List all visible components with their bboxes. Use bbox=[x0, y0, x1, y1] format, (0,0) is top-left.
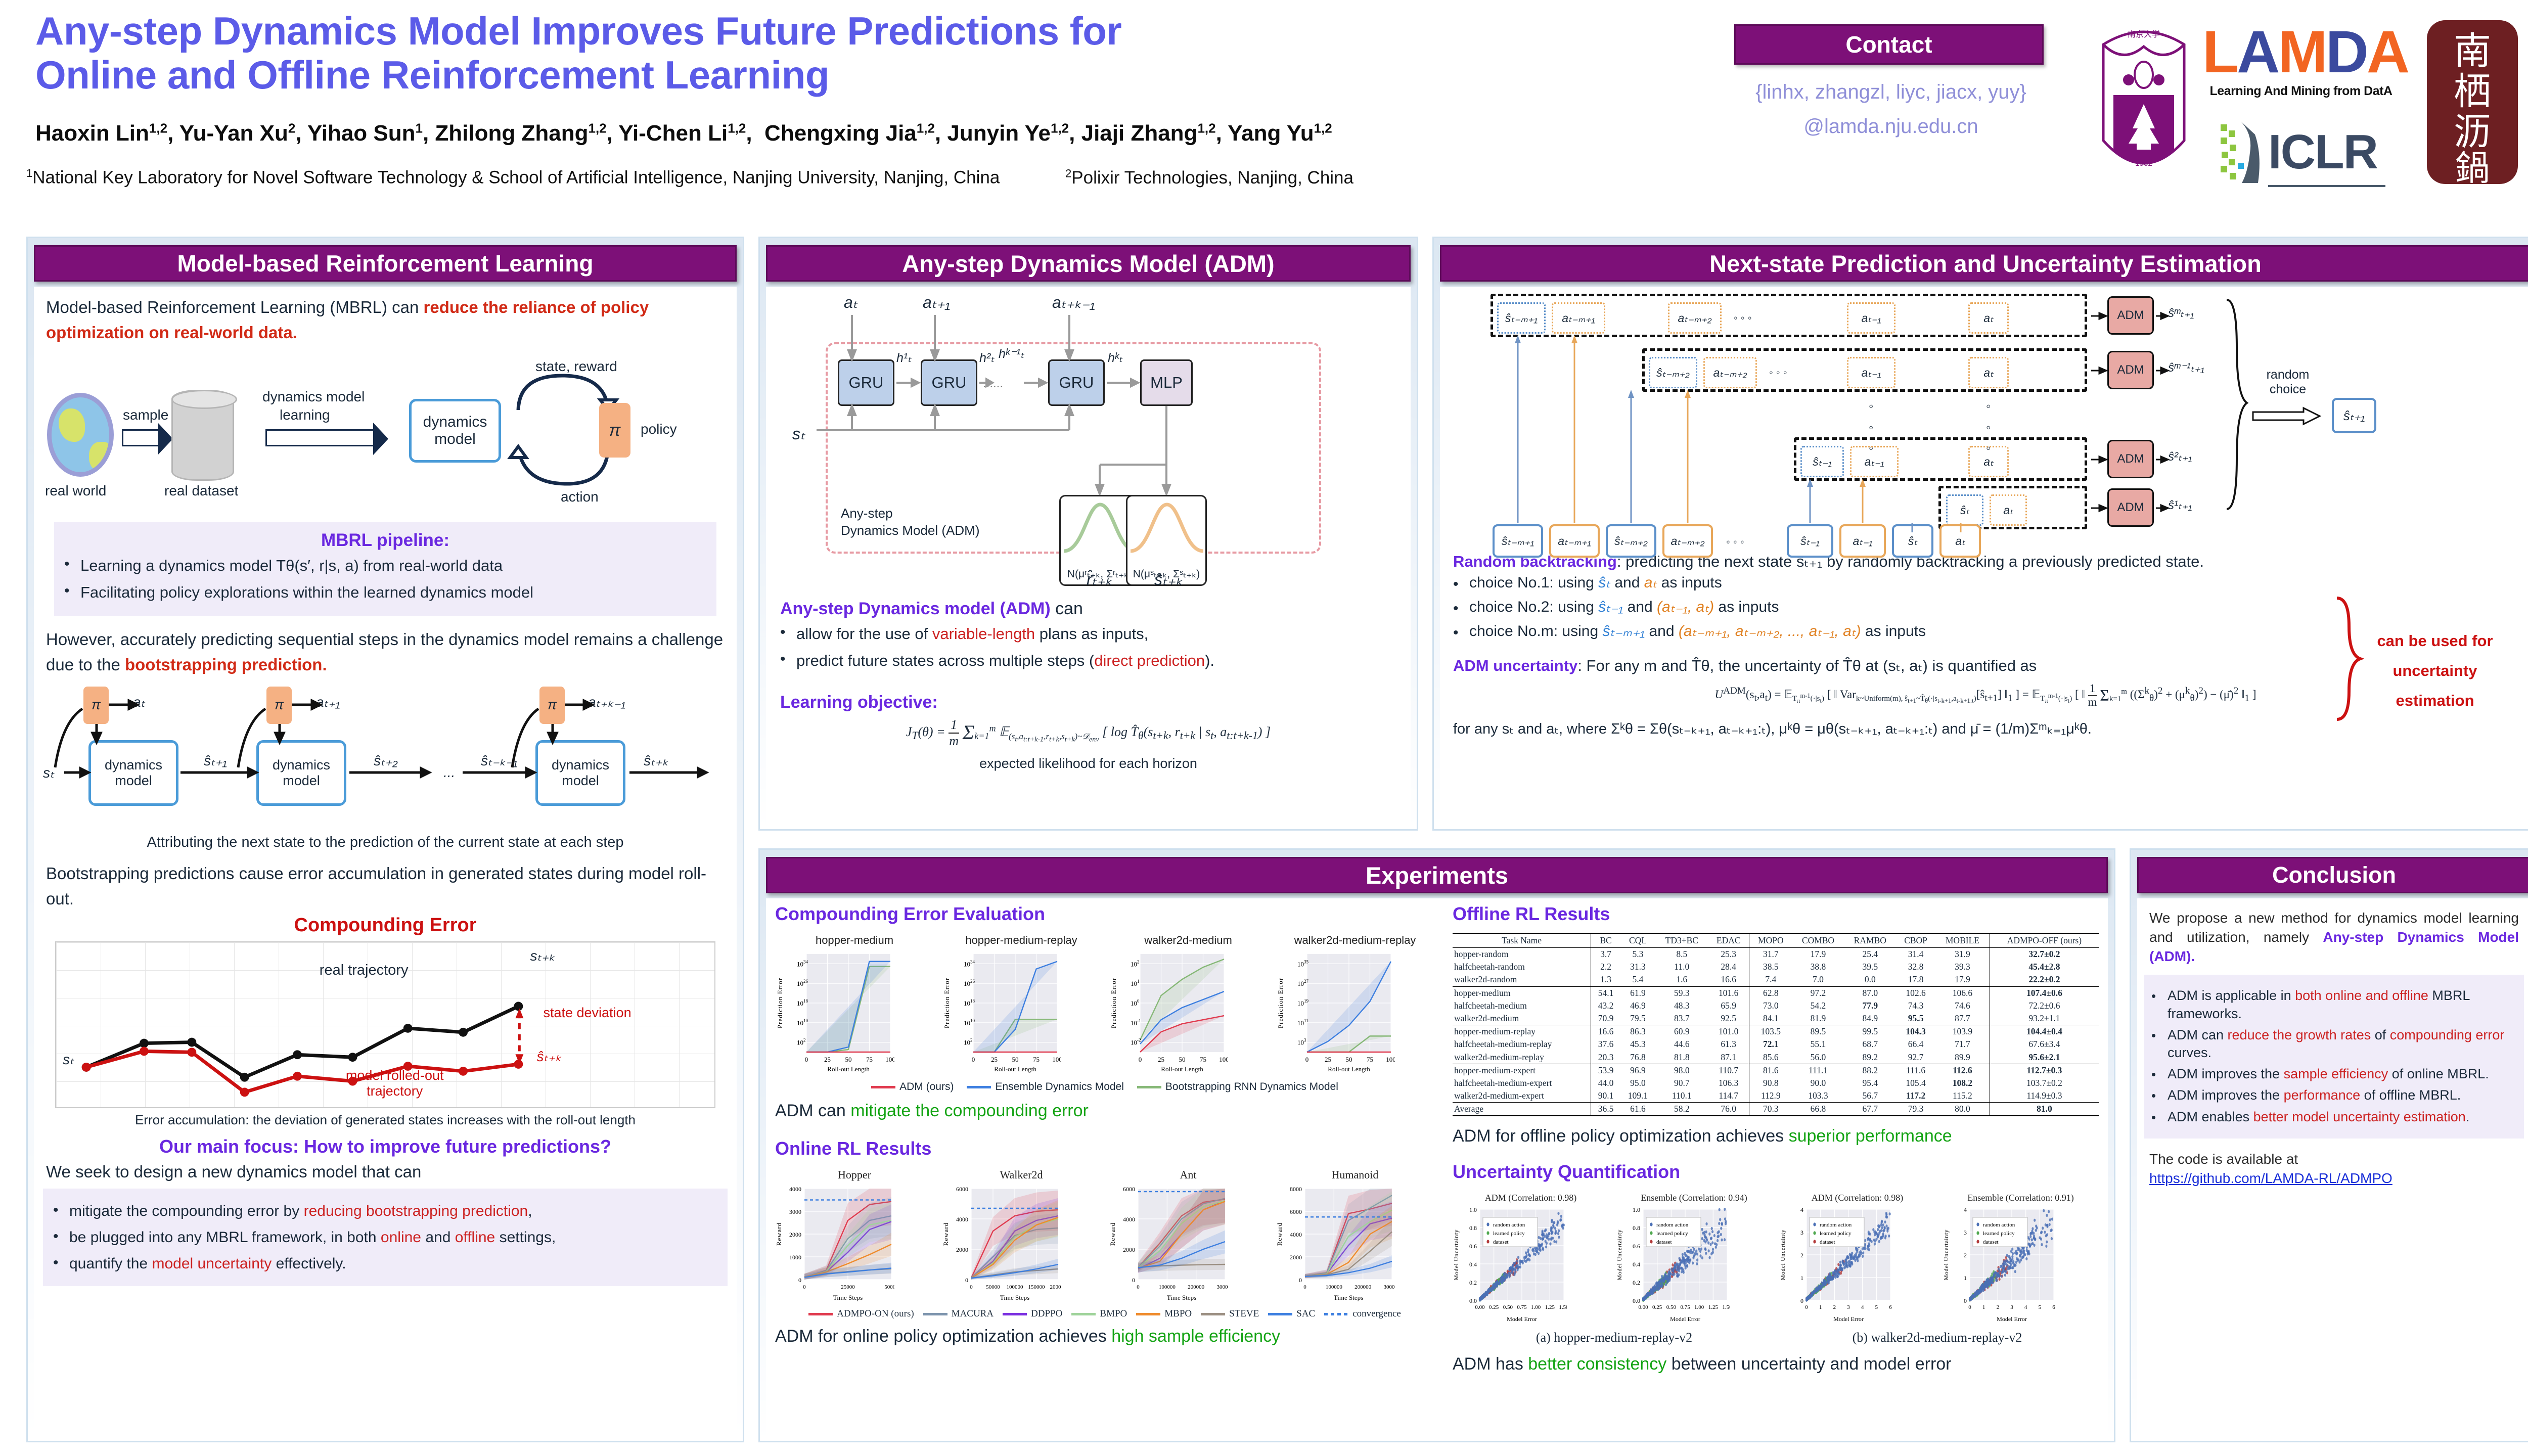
svg-text:0.25: 0.25 bbox=[1652, 1304, 1662, 1310]
svg-text:6000: 6000 bbox=[956, 1186, 968, 1193]
table-cell-task: walker2d-medium-expert bbox=[1453, 1089, 1591, 1103]
table-cell: 95.5 bbox=[1896, 1012, 1935, 1025]
svg-text:Reward: Reward bbox=[942, 1222, 950, 1246]
svg-text:10: 10 bbox=[797, 960, 803, 968]
compounding-error-legend: ADM (ours)Ensemble Dynamics ModelBootstr… bbox=[775, 1081, 1434, 1093]
legend-item: Ensemble Dynamics Model bbox=[967, 1081, 1123, 1093]
table-cell: 108.2 bbox=[1935, 1077, 1990, 1089]
svg-text:1.50: 1.50 bbox=[1559, 1304, 1567, 1310]
table-cell: 73.0 bbox=[1749, 999, 1792, 1012]
svg-text:10: 10 bbox=[1297, 960, 1304, 968]
svg-text:10: 10 bbox=[1297, 1039, 1304, 1046]
table-cell-task: halfcheetah-random bbox=[1453, 961, 1591, 973]
affiliations: 1National Key Laboratory for Novel Softw… bbox=[26, 167, 2074, 189]
compounding-error-caption: ADM can mitigate the compounding error bbox=[775, 1101, 1434, 1121]
compounding-error-charts: hopper-medium102101010181026103402550751… bbox=[775, 934, 1434, 1076]
table-cell: 117.2 bbox=[1896, 1089, 1935, 1103]
legend-item: Bootstrapping RNN Dynamics Model bbox=[1137, 1081, 1338, 1093]
svg-text:10: 10 bbox=[1131, 960, 1137, 968]
table-cell: 45.3 bbox=[1620, 1038, 1655, 1051]
table-cell-ours: 103.7±0.2 bbox=[1990, 1077, 2099, 1089]
label-real-trajectory: real trajectory bbox=[320, 962, 409, 979]
svg-text:200000: 200000 bbox=[1188, 1284, 1205, 1290]
svg-text:Model Error: Model Error bbox=[1507, 1315, 1537, 1323]
table-cell: 16.6 bbox=[1591, 1025, 1620, 1038]
focus-item: • quantify the model uncertainty effecti… bbox=[53, 1252, 717, 1276]
table-col-header: RAMBO bbox=[1844, 933, 1896, 948]
ce-subplot: walker2d-medium10-210-110010110202550751… bbox=[1109, 934, 1268, 1076]
svg-text:100000: 100000 bbox=[1007, 1284, 1024, 1290]
svg-text:Reward: Reward bbox=[775, 1222, 783, 1246]
table-cell: 104.3 bbox=[1896, 1025, 1935, 1038]
svg-text:10: 10 bbox=[797, 980, 803, 987]
svg-text:25: 25 bbox=[824, 1056, 831, 1063]
table-col-header: BC bbox=[1591, 933, 1620, 948]
svg-text:10: 10 bbox=[1131, 999, 1137, 1007]
svg-text:dataset: dataset bbox=[1656, 1239, 1672, 1245]
legend-swatch bbox=[1071, 1313, 1096, 1315]
random-backtracking-diagram: ŝₜ₋ₘ₊₁ aₜ₋ₘ₊₁ aₜ₋ₘ₊₂ ◦ ◦ ◦ aₜ₋₁ aₜ ADM ŝ… bbox=[1440, 287, 2528, 539]
label-ce-shat-tk: ŝₜ₊ₖ bbox=[536, 1048, 561, 1065]
svg-text:Model Error: Model Error bbox=[1997, 1315, 2027, 1323]
svg-text:19: 19 bbox=[1304, 998, 1309, 1004]
svg-text:1: 1 bbox=[1137, 979, 1140, 984]
svg-text:1.25: 1.25 bbox=[1545, 1304, 1555, 1310]
label-sample: sample bbox=[123, 407, 168, 423]
table-cell-task: halfcheetah-medium bbox=[1453, 999, 1591, 1012]
svg-text:2: 2 bbox=[1964, 1252, 1967, 1259]
legend-swatch bbox=[1268, 1313, 1292, 1315]
table-cell: 81.8 bbox=[1655, 1051, 1708, 1064]
table-cell: 25.3 bbox=[1708, 948, 1749, 961]
svg-text:0.8: 0.8 bbox=[1633, 1224, 1640, 1232]
table-cell: 103.3 bbox=[1792, 1089, 1844, 1103]
table-cell: 92.5 bbox=[1708, 1012, 1749, 1025]
objective-title: Learning objective: bbox=[780, 693, 1396, 712]
svg-text:50: 50 bbox=[1179, 1056, 1186, 1063]
svg-text:0.8: 0.8 bbox=[1469, 1224, 1477, 1232]
legend-swatch bbox=[871, 1086, 895, 1088]
table-row: walker2d-medium-expert90.1109.1110.1114.… bbox=[1453, 1089, 2099, 1103]
table-cell: 81.6 bbox=[1749, 1064, 1792, 1077]
pipeline-item: •Facilitating policy explorations within… bbox=[64, 580, 706, 604]
label-model-trajectory: model rolled-outtrajectory bbox=[346, 1068, 444, 1099]
contact-email-line2: @lamda.nju.edu.cn bbox=[1719, 115, 2063, 138]
table-cell: 80.0 bbox=[1935, 1103, 1990, 1116]
label-action: action bbox=[561, 489, 599, 505]
adm-dashbox-label: Any-stepDynamics Model (ADM) bbox=[841, 505, 980, 539]
chain-caption: Attributing the next state to the predic… bbox=[34, 834, 737, 851]
svg-text:0: 0 bbox=[1964, 1297, 1967, 1304]
svg-text:75: 75 bbox=[1033, 1056, 1040, 1063]
legend-item: SAC bbox=[1268, 1308, 1315, 1319]
table-cell: 70.9 bbox=[1591, 1012, 1620, 1025]
svg-text:Time Steps: Time Steps bbox=[1334, 1294, 1363, 1301]
svg-text:0: 0 bbox=[965, 1277, 968, 1284]
table-body: hopper-random3.75.38.525.331.717.925.431… bbox=[1453, 948, 2099, 1116]
label-state-reward: state, reward bbox=[535, 358, 617, 375]
logo-strip: 1902 南京大学 LAMDA Learning And Mining from… bbox=[2088, 12, 2528, 189]
svg-text:150000: 150000 bbox=[1028, 1284, 1046, 1290]
svg-text:0: 0 bbox=[805, 1056, 808, 1063]
table-cell: 7.0 bbox=[1792, 973, 1844, 986]
legend-item: convergence bbox=[1324, 1308, 1401, 1319]
svg-text:0.6: 0.6 bbox=[1633, 1243, 1640, 1250]
table-cell: 5.3 bbox=[1620, 948, 1655, 961]
svg-text:10: 10 bbox=[797, 999, 803, 1007]
uncertainty-caption: ADM has better consistency between uncer… bbox=[1453, 1354, 2099, 1374]
svg-text:learned policy: learned policy bbox=[1656, 1231, 1688, 1237]
policy-pi-box: π bbox=[599, 403, 630, 458]
table-cell: 1.3 bbox=[1591, 973, 1620, 986]
table-cell: 56.0 bbox=[1792, 1051, 1844, 1064]
svg-text:3000: 3000 bbox=[789, 1208, 801, 1215]
table-cell: 90.0 bbox=[1792, 1077, 1844, 1089]
svg-text:learned policy: learned policy bbox=[1983, 1231, 2015, 1237]
svg-text:25: 25 bbox=[1325, 1056, 1331, 1063]
pipeline-title: MBRL pipeline: bbox=[64, 530, 706, 551]
table-cell: 32.8 bbox=[1896, 961, 1935, 973]
svg-text:1.00: 1.00 bbox=[1694, 1304, 1704, 1310]
table-cell: 111.6 bbox=[1896, 1064, 1935, 1077]
svg-text:0.2: 0.2 bbox=[1633, 1279, 1640, 1286]
svg-text:50000: 50000 bbox=[884, 1284, 894, 1290]
svg-text:50: 50 bbox=[1012, 1056, 1019, 1063]
svg-text:0.00: 0.00 bbox=[1638, 1304, 1648, 1310]
panel-right-title: Next-state Prediction and Uncertainty Es… bbox=[1709, 250, 2262, 278]
table-cell: 106.3 bbox=[1708, 1077, 1749, 1089]
table-cell: 77.9 bbox=[1844, 999, 1896, 1012]
panel-mid-body: aₜ aₜ₊₁ aₜ₊ₖ₋₁ GRU GRU GRU MLP h¹ₜ h²ₜ h… bbox=[766, 287, 1411, 825]
panel-right-header: Next-state Prediction and Uncertainty Es… bbox=[1440, 245, 2528, 282]
online-rl-caption: ADM for online policy optimization achie… bbox=[775, 1327, 1434, 1346]
svg-text:18: 18 bbox=[803, 998, 808, 1004]
svg-text:27: 27 bbox=[1304, 979, 1309, 984]
ce-subplot-title: walker2d-medium-replay bbox=[1276, 934, 1434, 947]
table-cell: 59.3 bbox=[1655, 986, 1708, 999]
svg-text:Reward: Reward bbox=[1276, 1222, 1283, 1246]
table-cell: 89.9 bbox=[1935, 1051, 1990, 1064]
offline-rl-caption: ADM for offline policy optimization achi… bbox=[1453, 1126, 2099, 1146]
svg-text:10: 10 bbox=[964, 1039, 970, 1046]
offline-rl-title: Offline RL Results bbox=[1453, 903, 2099, 925]
table-cell: 98.0 bbox=[1655, 1064, 1708, 1077]
table-cell: 111.1 bbox=[1792, 1064, 1844, 1077]
table-cell: 38.5 bbox=[1749, 961, 1792, 973]
svg-text:10: 10 bbox=[964, 980, 970, 987]
table-col-header: CQL bbox=[1620, 933, 1655, 948]
table-cell: 62.8 bbox=[1749, 986, 1792, 999]
svg-text:34: 34 bbox=[970, 959, 975, 964]
svg-text:Roll-out Length: Roll-out Length bbox=[1161, 1065, 1203, 1073]
svg-text:Model Uncertainty: Model Uncertainty bbox=[1617, 1230, 1623, 1281]
table-cell: 112.9 bbox=[1749, 1089, 1792, 1103]
dynamics-model-box: dynamicsmodel bbox=[409, 399, 501, 463]
svg-text:0: 0 bbox=[1805, 1304, 1808, 1310]
chain-arrows bbox=[34, 681, 732, 833]
nanjing-seal-logo: 南 栖 沥 鍋 bbox=[2422, 15, 2523, 189]
svg-text:5: 5 bbox=[1875, 1304, 1878, 1310]
table-cell: 83.7 bbox=[1655, 1012, 1708, 1025]
table-cell: 76.8 bbox=[1620, 1051, 1655, 1064]
adm-output-reward: r̂ₜ₊ₖ bbox=[1087, 570, 1112, 589]
legend-label: SAC bbox=[1296, 1308, 1315, 1319]
svg-text:6: 6 bbox=[2052, 1304, 2055, 1310]
table-cell: 70.3 bbox=[1749, 1103, 1792, 1116]
main-focus-title: Our main focus: How to improve future pr… bbox=[34, 1136, 737, 1157]
uq-subplot-title: Ensemble (Correlation: 0.94) bbox=[1616, 1193, 1772, 1203]
svg-text:Model Error: Model Error bbox=[1833, 1315, 1864, 1323]
table-cell: 90.7 bbox=[1655, 1077, 1708, 1089]
svg-text:25000: 25000 bbox=[841, 1284, 855, 1290]
table-cell: 109.1 bbox=[1620, 1089, 1655, 1103]
svg-text:1: 1 bbox=[1982, 1304, 1985, 1310]
svg-text:0.6: 0.6 bbox=[1469, 1243, 1477, 1250]
svg-text:1.25: 1.25 bbox=[1708, 1304, 1719, 1310]
legend-label: ADMPO-ON (ours) bbox=[837, 1308, 914, 1319]
uq-subcaption-b: (b) walker2d-medium-replay-v2 bbox=[1776, 1330, 2099, 1345]
random-backtracking-text-block: Random backtracking: predicting the next… bbox=[1440, 539, 2528, 738]
table-cell: 89.5 bbox=[1792, 1025, 1844, 1038]
svg-text:5: 5 bbox=[2039, 1304, 2042, 1310]
svg-text:3: 3 bbox=[1847, 1304, 1850, 1310]
svg-text:4: 4 bbox=[1964, 1206, 1967, 1213]
svg-text:10: 10 bbox=[803, 1018, 808, 1023]
legend-label: ADM (ours) bbox=[899, 1081, 954, 1093]
legend-item: DDPPO bbox=[1003, 1308, 1062, 1319]
panel-mid-header: Any-step Dynamics Model (ADM) bbox=[766, 245, 1411, 282]
panel-conclusion-header: Conclusion bbox=[2137, 857, 2528, 893]
legend-label: MBPO bbox=[1164, 1308, 1192, 1319]
label-state-deviation: state deviation bbox=[543, 1005, 631, 1021]
svg-text:0.75: 0.75 bbox=[1680, 1304, 1690, 1310]
svg-text:3: 3 bbox=[1800, 1229, 1803, 1236]
svg-text:0: 0 bbox=[1800, 1297, 1803, 1304]
panel-model-based-rl: Model-based Reinforcement Learning Model… bbox=[26, 237, 744, 1442]
label-real-dataset: real dataset bbox=[164, 483, 238, 499]
table-cell: 79.3 bbox=[1896, 1103, 1935, 1116]
svg-text:0: 0 bbox=[1137, 998, 1140, 1004]
svg-text:6000: 6000 bbox=[1123, 1186, 1135, 1193]
uq-subplot-title: ADM (Correlation: 0.98) bbox=[1453, 1193, 1609, 1203]
ce-subplot-title: hopper-medium bbox=[775, 934, 934, 947]
panel-conclusion-title: Conclusion bbox=[2272, 862, 2396, 888]
svg-text:1.0: 1.0 bbox=[1469, 1206, 1477, 1213]
ce-subplot: hopper-medium102101010181026103402550751… bbox=[775, 934, 934, 1076]
table-cell: 81.9 bbox=[1792, 1012, 1844, 1025]
table-cell: 92.7 bbox=[1896, 1051, 1935, 1064]
table-cell: 25.4 bbox=[1844, 948, 1896, 961]
table-row: halfcheetah-medium43.246.948.365.973.054… bbox=[1453, 999, 2099, 1012]
table-cell: 48.3 bbox=[1655, 999, 1708, 1012]
brace-note: can be used foruncertainty estimation bbox=[2359, 626, 2511, 716]
svg-text:3: 3 bbox=[2010, 1304, 2013, 1310]
table-col-header: EDAC bbox=[1708, 933, 1749, 948]
table-cell: 114.7 bbox=[1708, 1089, 1749, 1103]
svg-text:10: 10 bbox=[970, 1018, 975, 1023]
table-cell: 90.1 bbox=[1591, 1089, 1620, 1103]
svg-text:2: 2 bbox=[1800, 1252, 1803, 1259]
table-cell: 72.1 bbox=[1749, 1038, 1792, 1051]
table-cell: 20.3 bbox=[1591, 1051, 1620, 1064]
table-col-header: CBOP bbox=[1896, 933, 1935, 948]
legend-swatch bbox=[1136, 1313, 1160, 1315]
svg-text:1902: 1902 bbox=[2135, 159, 2152, 168]
svg-text:0.2: 0.2 bbox=[1469, 1279, 1477, 1286]
svg-text:0: 0 bbox=[972, 1056, 975, 1063]
table-cell: 0.0 bbox=[1844, 973, 1896, 986]
code-availability: The code is available at https://github.… bbox=[2137, 1139, 2528, 1188]
legend-swatch bbox=[1324, 1313, 1348, 1315]
svg-text:18: 18 bbox=[970, 998, 975, 1004]
svg-text:2000: 2000 bbox=[789, 1231, 801, 1238]
ce-subplot-title: walker2d-medium bbox=[1109, 934, 1268, 947]
table-cell: 53.9 bbox=[1591, 1064, 1620, 1077]
legend-swatch bbox=[923, 1313, 947, 1315]
table-cell-task: Average bbox=[1453, 1103, 1591, 1116]
svg-text:4000: 4000 bbox=[1123, 1216, 1135, 1223]
svg-text:75: 75 bbox=[866, 1056, 873, 1063]
table-cell-task: hopper-medium-replay bbox=[1453, 1025, 1591, 1038]
exp-column-right: Offline RL Results Task NameBCCQLTD3+BCE… bbox=[1443, 898, 2108, 1437]
code-text: The code is available at bbox=[2149, 1150, 2519, 1169]
conclusion-item: • ADM is applicable in both online and o… bbox=[2151, 987, 2517, 1023]
table-cell-ours: 67.6±3.4 bbox=[1990, 1038, 2099, 1051]
svg-text:0.50: 0.50 bbox=[1666, 1304, 1677, 1310]
table-cell: 90.8 bbox=[1749, 1077, 1792, 1089]
svg-text:1.50: 1.50 bbox=[1722, 1304, 1730, 1310]
online-rl-charts: Hopper0100020003000400002500050000Time S… bbox=[775, 1168, 1434, 1304]
table-cell: 88.2 bbox=[1844, 1064, 1896, 1077]
table-cell: 101.6 bbox=[1708, 986, 1749, 999]
svg-text:4: 4 bbox=[1800, 1206, 1803, 1213]
svg-text:10: 10 bbox=[1131, 1019, 1137, 1027]
svg-text:2: 2 bbox=[803, 1038, 806, 1043]
table-cell: 38.8 bbox=[1792, 961, 1844, 973]
svg-text:0.4: 0.4 bbox=[1469, 1261, 1477, 1268]
conclusion-item: • ADM can reduce the growth rates of com… bbox=[2151, 1026, 2517, 1062]
svg-text:0: 0 bbox=[803, 1284, 806, 1290]
table-cell: 11.0 bbox=[1655, 961, 1708, 973]
table-row: hopper-random3.75.38.525.331.717.925.431… bbox=[1453, 948, 2099, 961]
offline-results-table-wrap: Task NameBCCQLTD3+BCEDACMOPOCOMBORAMBOCB… bbox=[1453, 933, 2099, 1116]
svg-text:Prediction Error: Prediction Error bbox=[1277, 978, 1284, 1028]
panel-experiments: Experiments Compounding Error Evaluation… bbox=[758, 848, 2115, 1442]
svg-text:1.00: 1.00 bbox=[1531, 1304, 1541, 1310]
svg-text:300000: 300000 bbox=[1384, 1284, 1395, 1290]
svg-text:2000: 2000 bbox=[1290, 1254, 1302, 1261]
table-row: walker2d-random1.35.41.616.67.47.00.017.… bbox=[1453, 973, 2099, 986]
table-cell: 61.9 bbox=[1620, 986, 1655, 999]
table-cell-task: walker2d-random bbox=[1453, 973, 1591, 986]
table-cell: 103.5 bbox=[1749, 1025, 1792, 1038]
panel-left-title: Model-based Reinforcement Learning bbox=[177, 250, 593, 277]
svg-text:Time Steps: Time Steps bbox=[1167, 1294, 1196, 1301]
svg-text:100000: 100000 bbox=[1326, 1284, 1343, 1290]
svg-text:Roll-out Length: Roll-out Length bbox=[994, 1065, 1036, 1073]
svg-text:栖: 栖 bbox=[2454, 71, 2491, 113]
table-cell-task: walker2d-medium bbox=[1453, 1012, 1591, 1025]
table-cell: 28.4 bbox=[1708, 961, 1749, 973]
svg-text:6000: 6000 bbox=[1290, 1208, 1302, 1215]
svg-text:1: 1 bbox=[1800, 1275, 1803, 1282]
table-cell-ours: 45.4±2.8 bbox=[1990, 961, 2099, 973]
svg-text:4: 4 bbox=[1861, 1304, 1864, 1310]
however-text: However, accurately predicting sequentia… bbox=[34, 616, 737, 677]
table-cell-ours: 107.4±0.6 bbox=[1990, 986, 2099, 999]
svg-text:100: 100 bbox=[1219, 1056, 1228, 1063]
table-cell-ours: 22.2±0.2 bbox=[1990, 973, 2099, 986]
table-row: hopper-medium-replay16.686.360.9101.0103… bbox=[1453, 1025, 2099, 1038]
table-cell: 17.9 bbox=[1935, 973, 1990, 986]
svg-text:75: 75 bbox=[1367, 1056, 1373, 1063]
table-cell-ours: 93.2±1.1 bbox=[1990, 1012, 2099, 1025]
svg-text:6: 6 bbox=[1889, 1304, 1892, 1310]
main-focus-box: • mitigate the compounding error by redu… bbox=[43, 1189, 728, 1286]
choice-item: • choice No.1: using ŝₜ and aₜ as inputs bbox=[1453, 574, 2518, 595]
legend-item: BMPO bbox=[1071, 1308, 1127, 1319]
github-link[interactable]: https://github.com/LAMDA-RL/ADMPO bbox=[2149, 1170, 2392, 1186]
arrow-dm-learning bbox=[265, 429, 375, 446]
adm-can-item: • predict future states across multiple … bbox=[780, 649, 1396, 672]
table-cell: 44.0 bbox=[1591, 1077, 1620, 1089]
table-cell-task: hopper-random bbox=[1453, 948, 1591, 961]
svg-text:Model Uncertainty: Model Uncertainty bbox=[1454, 1230, 1460, 1281]
label-real-world: real world bbox=[45, 483, 106, 499]
compounding-error-illustration: Compounding Error bbox=[34, 915, 737, 1128]
svg-text:Model Uncertainty: Model Uncertainty bbox=[1780, 1230, 1786, 1281]
lamda-logo: LAMDA Learning And Mining from DatA bbox=[2202, 22, 2400, 118]
legend-item: ADMPO-ON (ours) bbox=[808, 1308, 914, 1319]
online-subplot-title: Humanoid bbox=[1276, 1168, 1434, 1181]
table-col-header: MOPO bbox=[1749, 933, 1792, 948]
panel-conclusion-body: We propose a new method for dynamics mod… bbox=[2137, 898, 2528, 1437]
svg-text:2: 2 bbox=[1137, 959, 1140, 964]
svg-text:0: 0 bbox=[798, 1277, 801, 1284]
svg-text:Roll-out Length: Roll-out Length bbox=[827, 1065, 870, 1073]
table-cell: 101.0 bbox=[1708, 1025, 1749, 1038]
adm-output-state: ŝₜ₊ₖ bbox=[1154, 570, 1183, 589]
svg-text:10: 10 bbox=[964, 999, 970, 1007]
svg-text:dataset: dataset bbox=[1493, 1239, 1509, 1245]
offline-results-table: Task NameBCCQLTD3+BCEDACMOPOCOMBORAMBOCB… bbox=[1453, 933, 2099, 1116]
svg-text:25: 25 bbox=[991, 1056, 998, 1063]
uq-subplot: Ensemble (Correlation: 0.94)0.00.20.40.6… bbox=[1616, 1193, 1772, 1326]
objective-caption: expected likelihood for each horizon bbox=[780, 756, 1396, 771]
legend-label: MACURA bbox=[952, 1308, 994, 1319]
arrow-sample bbox=[122, 429, 159, 446]
panel-right-body: ŝₜ₋ₘ₊₁ aₜ₋ₘ₊₁ aₜ₋ₘ₊₂ ◦ ◦ ◦ aₜ₋₁ aₜ ADM ŝ… bbox=[1440, 287, 2528, 825]
online-subplot-title: Ant bbox=[1109, 1168, 1268, 1181]
online-rl-title: Online RL Results bbox=[775, 1138, 1434, 1159]
svg-text:0: 0 bbox=[1139, 1056, 1142, 1063]
table-cell: 67.7 bbox=[1844, 1103, 1896, 1116]
svg-text:8000: 8000 bbox=[1290, 1186, 1302, 1193]
table-cell: 65.9 bbox=[1708, 999, 1749, 1012]
conclusion-item: • ADM improves the performance of offlin… bbox=[2151, 1086, 2517, 1105]
table-cell: 61.3 bbox=[1708, 1038, 1749, 1051]
table-cell-ours: 81.0 bbox=[1990, 1103, 2099, 1116]
table-cell: 84.1 bbox=[1749, 1012, 1792, 1025]
legend-item: MBPO bbox=[1136, 1308, 1192, 1319]
table-cell-task: walker2d-medium-replay bbox=[1453, 1051, 1591, 1064]
legend-swatch bbox=[808, 1313, 833, 1315]
svg-text:1.0: 1.0 bbox=[1633, 1206, 1640, 1213]
svg-text:10: 10 bbox=[964, 960, 970, 968]
table-cell: 54.2 bbox=[1792, 999, 1844, 1012]
table-cell: 95.4 bbox=[1844, 1077, 1896, 1089]
table-cell: 55.1 bbox=[1792, 1038, 1844, 1051]
